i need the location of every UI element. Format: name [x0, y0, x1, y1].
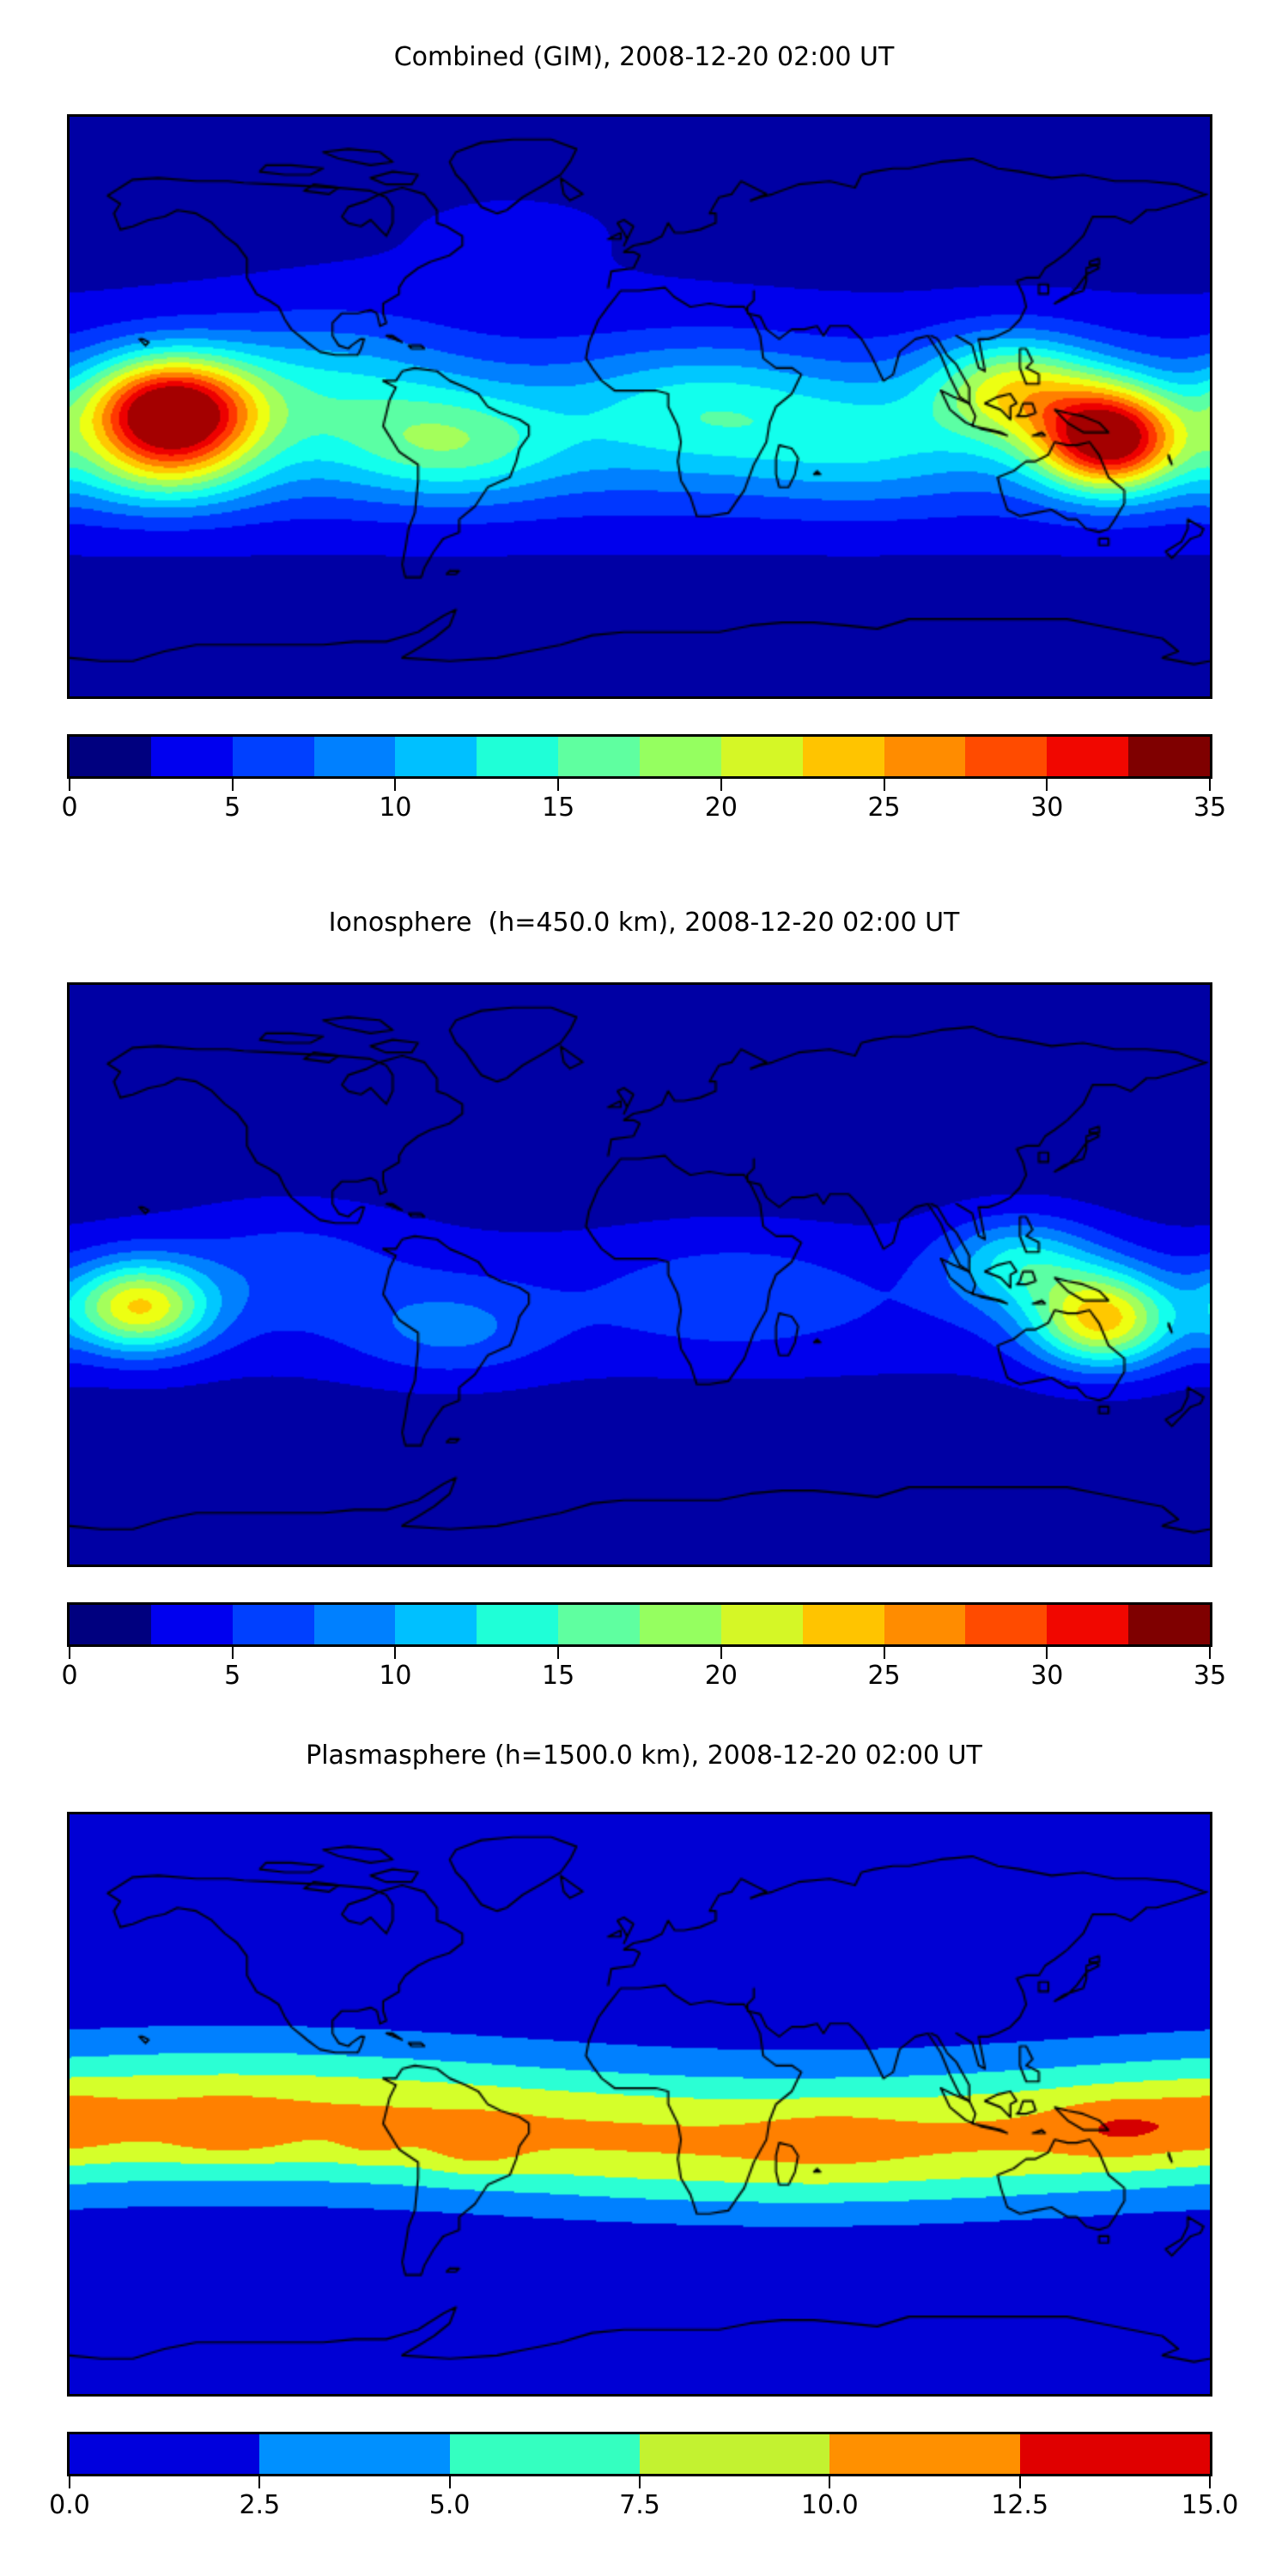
colorbar-tick-label-2: 5.0	[429, 2490, 471, 2520]
colorbar-tick-2	[449, 2476, 451, 2488]
colorbar-band-3	[314, 1605, 396, 1644]
colorbar-band-13	[1128, 1605, 1210, 1644]
colorbar-tick-label-2: 10	[379, 1661, 411, 1691]
colorbar-tick-2	[394, 1647, 396, 1659]
colorbar-tick-5	[1019, 2476, 1021, 2488]
colorbar-band-11	[965, 1605, 1047, 1644]
colorbar-tick-label-3: 15	[542, 1661, 574, 1691]
colorbar-band-3	[640, 2434, 829, 2474]
colorbar-ionosphere: 05101520253035	[67, 1602, 1212, 1693]
colorbar-tick-label-4: 20	[705, 1661, 738, 1691]
colorbar-tick-1	[232, 1647, 234, 1659]
colorbar-band-1	[259, 2434, 449, 2474]
colorbar-band-5	[477, 1605, 558, 1644]
colorbar-tick-5	[884, 1647, 885, 1659]
colorbar-band-0	[70, 2434, 259, 2474]
map-axes-ionosphere	[67, 982, 1212, 1567]
colorbar-band-4	[395, 1605, 477, 1644]
colorbar-tick-label-7: 35	[1194, 1661, 1226, 1691]
colorbar-ticks-plasmasphere	[67, 2476, 1212, 2488]
colorbar-tick-label-3: 7.5	[619, 2490, 660, 2520]
colorbar-band-8	[721, 1605, 803, 1644]
colorbar-band-2	[233, 1605, 314, 1644]
panel-title-ionosphere: Ionosphere (h=450.0 km), 2008-12-20 02:0…	[0, 910, 1288, 936]
colorbar-tick-4	[829, 2476, 830, 2488]
colorbar-labels-ionosphere: 05101520253035	[67, 1659, 1212, 1693]
colorbar-tick-1	[258, 2476, 260, 2488]
map-axes-plasmasphere	[67, 1812, 1212, 2397]
colorbar-band-4	[829, 2434, 1019, 2474]
colorbar-tick-4	[720, 1647, 722, 1659]
colorbar-band-0	[70, 1605, 151, 1644]
colorbar-band-1	[151, 1605, 233, 1644]
colorbar-band-5	[1020, 2434, 1210, 2474]
colorbar-bands-ionosphere	[67, 1602, 1212, 1647]
colorbar-plasmasphere: 0.02.55.07.510.012.515.0	[67, 2432, 1212, 2523]
colorbar-bands-plasmasphere	[67, 2432, 1212, 2476]
colorbar-labels-plasmasphere: 0.02.55.07.510.012.515.0	[67, 2488, 1212, 2523]
panel-plasmasphere: Plasmasphere (h=1500.0 km), 2008-12-20 0…	[0, 0, 1288, 859]
colorbar-tick-6	[1046, 1647, 1048, 1659]
colorbar-tick-label-6: 30	[1030, 1661, 1063, 1691]
map-contour-plasmasphere	[70, 1814, 1210, 2394]
tec-map-figure: Combined (GIM), 2008-12-20 02:00 UT 0510…	[0, 0, 1288, 2576]
colorbar-band-7	[640, 1605, 721, 1644]
colorbar-tick-label-4: 10.0	[801, 2490, 859, 2520]
colorbar-tick-7	[1209, 1647, 1211, 1659]
colorbar-tick-3	[639, 2476, 641, 2488]
colorbar-band-12	[1047, 1605, 1128, 1644]
panel-title-plasmasphere: Plasmasphere (h=1500.0 km), 2008-12-20 0…	[0, 1743, 1288, 1769]
colorbar-ticks-ionosphere	[67, 1647, 1212, 1659]
colorbar-band-2	[450, 2434, 640, 2474]
colorbar-band-10	[884, 1605, 966, 1644]
colorbar-tick-0	[69, 1647, 70, 1659]
colorbar-tick-0	[69, 2476, 70, 2488]
colorbar-tick-label-1: 2.5	[239, 2490, 280, 2520]
colorbar-tick-3	[557, 1647, 559, 1659]
colorbar-tick-6	[1209, 2476, 1211, 2488]
colorbar-tick-label-0: 0	[61, 1661, 77, 1691]
map-contour-ionosphere	[70, 985, 1210, 1564]
colorbar-tick-label-5: 12.5	[991, 2490, 1048, 2520]
colorbar-band-6	[558, 1605, 640, 1644]
colorbar-band-9	[803, 1605, 884, 1644]
colorbar-tick-label-6: 15.0	[1182, 2490, 1239, 2520]
colorbar-tick-label-5: 25	[867, 1661, 900, 1691]
colorbar-tick-label-1: 5	[224, 1661, 240, 1691]
colorbar-tick-label-0: 0.0	[49, 2490, 90, 2520]
